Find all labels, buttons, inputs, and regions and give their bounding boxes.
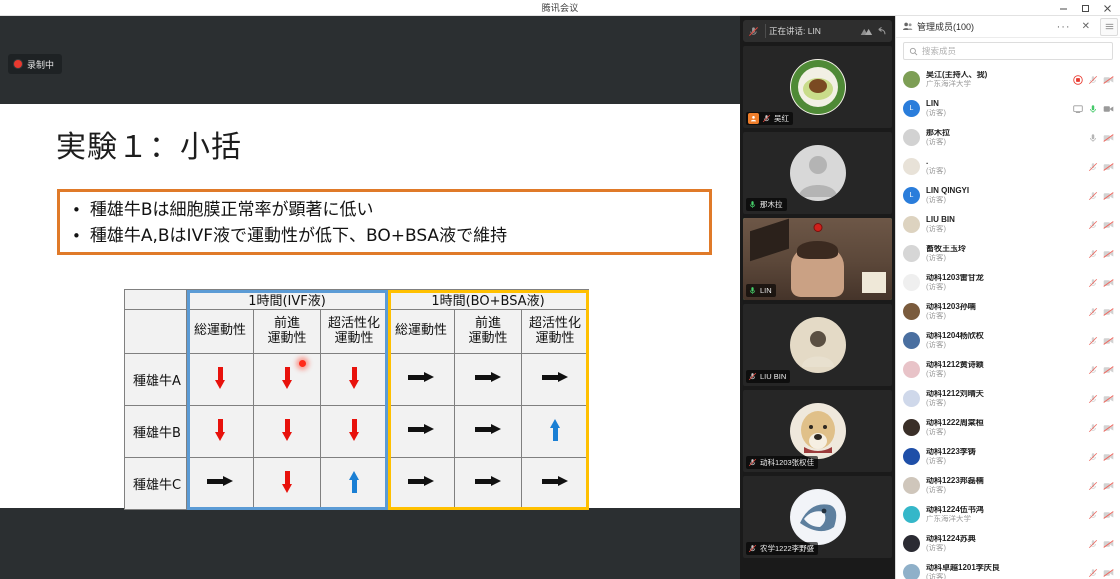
mic-muted-icon[interactable] [1088,423,1098,433]
window-title: 腾讯会议 [542,1,579,14]
camera-on-icon[interactable] [1103,104,1114,114]
cell-r2-c0 [187,458,254,510]
camera-muted-icon[interactable] [1103,307,1114,317]
avatar [903,216,920,233]
shared-screen-stage: 录制中 実験１：小括 • 種雄牛Bは細胞膜正常率が顕著に低い • 種雄牛A,Bは… [0,16,740,579]
camera-muted-icon[interactable] [1103,75,1114,85]
avatar [903,303,920,320]
participant-row[interactable]: 动科1224伍书鸿广东海洋大学 [896,500,1120,529]
participant-controls[interactable] [1073,75,1114,85]
avatar: L [903,187,920,204]
participant-subtitle: (访客) [926,283,1082,291]
list-menu-icon [1105,22,1114,31]
participant-name: 动科1224苏典 [926,535,1082,544]
participant-info: 动科1224伍书鸿广东海洋大学 [926,506,1082,523]
mic-muted-icon[interactable] [1088,336,1098,346]
cell-r0-c1 [254,354,321,406]
mic-muted-icon[interactable] [1088,452,1098,462]
participant-controls[interactable] [1088,133,1114,143]
search-input[interactable] [922,46,1107,56]
bullet-marker-icon: • [72,224,81,248]
panel-close-button[interactable]: ✕ [1078,21,1094,32]
participant-controls[interactable] [1088,568,1114,578]
participant-row[interactable]: 动科1204杨欣权(访客) [896,326,1120,355]
video-tile-2[interactable]: LIN [743,218,892,300]
mic-muted-icon[interactable] [1088,162,1098,172]
avatar [903,245,920,262]
avatar-photo [790,59,846,115]
mic-muted-icon[interactable] [1088,191,1098,201]
participant-info: 吴江(主持人、我)广东海洋大学 [926,71,1067,88]
arrow-down-icon [282,471,293,493]
mic-on-icon [748,286,757,295]
participant-name: 动科卓越1201李庆良 [926,564,1082,573]
share-screen-icon[interactable] [1073,104,1083,114]
arrow-down-icon [282,419,293,441]
stage-letterbox-bottom [0,508,740,579]
participant-name: 动科1204杨欣权 [926,332,1082,341]
mic-on-icon [748,200,757,209]
tile-name-badge: 动科1203张权佳 [746,456,818,469]
avatar [903,158,920,175]
participant-row[interactable]: 动科1224苏典(访客) [896,529,1120,558]
participant-row[interactable]: 畜牧王玉玲(访客) [896,239,1120,268]
participants-search-box[interactable] [903,42,1113,60]
maximize-button[interactable] [1074,0,1096,16]
cell-r2-c5 [522,458,589,510]
slide-bullet-box: • 種雄牛Bは細胞膜正常率が顕著に低い • 種雄牛A,BはIVF液で運動性が低下… [57,189,712,255]
mic-muted-icon[interactable] [1088,539,1098,549]
arrow-down-icon [282,367,293,389]
people-icon [902,21,913,32]
participants-panel-header: 管理成员(100) ··· ✕ [896,16,1120,38]
participant-controls[interactable] [1088,365,1114,375]
cell-r2-c1 [254,458,321,510]
mic-muted-icon[interactable] [1088,568,1098,578]
tile-participant-name: 那木拉 [760,199,783,210]
slide-title: 実験１：小括 [56,122,242,166]
camera-muted-icon[interactable] [1103,365,1114,375]
camera-muted-icon[interactable] [1103,423,1114,433]
participant-info: 动科1204杨欣权(访客) [926,332,1082,349]
cell-r0-c3 [388,354,455,406]
arrow-down-icon [215,367,226,389]
participant-info: 动科1212黄诗颖(访客) [926,361,1082,378]
participant-controls[interactable] [1088,278,1114,288]
avatar [903,274,920,291]
mic-muted-icon [748,544,757,553]
arrow-right-icon [475,424,501,435]
speaker-bar-actions[interactable] [859,26,887,37]
bullet-item-2: • 種雄牛A,BはIVF液で運動性が低下、BO+BSA液で維持 [72,224,699,250]
video-tile-4[interactable]: 动科1203张权佳 [743,390,892,472]
results-table-wrapper: 1時間(IVF液) 1時間(BO+BSA液) 総運動性 前進運動性 超活性化運動… [124,289,589,510]
table-corner-grey [125,310,187,354]
participant-name: 吴江(主持人、我) [926,71,1067,80]
participant-info: 动科1203雷甘龙(访客) [926,274,1082,291]
avatar [903,361,920,378]
stage-letterbox-top [0,16,740,104]
avatar [903,332,920,349]
camera-muted-icon[interactable] [1103,539,1114,549]
active-speaker-bar: 正在讲话: LIN [743,20,892,42]
arrow-right-icon [542,372,568,383]
presentation-slide: 実験１：小括 • 種雄牛Bは細胞膜正常率が顕著に低い • 種雄牛A,BはIVF液… [0,104,740,508]
video-tile-1[interactable]: 那木拉 [743,132,892,214]
panel-menu-button[interactable] [1100,18,1118,36]
arrow-right-icon [408,372,434,383]
participant-info: 动科1223李铸(访客) [926,448,1082,465]
participant-subtitle: (访客) [926,341,1082,349]
avatar-photo [790,403,846,459]
participant-name: 动科1212黄诗颖 [926,361,1082,370]
avatar [903,129,920,146]
tile-name-badge: 农学1222李野盛 [746,542,818,555]
arrow-right-icon [475,476,501,487]
minimize-button[interactable] [1052,0,1074,16]
participant-name: 那木拉 [926,129,1082,138]
participant-row[interactable]: 动科1223邦磊楠(访客) [896,471,1120,500]
window-title-bar: 腾讯会议 [0,0,1120,16]
col-head-ivf-progressive: 前進運動性 [254,310,321,354]
avatar [903,71,920,88]
tile-participant-name: 动科1203张权佳 [760,457,814,468]
avatar-photo [790,317,846,373]
participants-list[interactable]: 吴江(主持人、我)广东海洋大学LLIN(访客)那木拉(访客).(访客)LLIN … [896,65,1120,579]
participant-name: 动科1223邦磊楠 [926,477,1082,486]
mic-on-icon[interactable] [1088,104,1098,114]
cell-r1-c0 [187,406,254,458]
col-head-bo-progressive: 前進運動性 [455,310,522,354]
participant-name: . [926,158,1082,167]
video-tile-5[interactable]: 农学1222李野盛 [743,476,892,558]
participant-info: LIN(访客) [926,100,1067,117]
bullet-item-1: • 種雄牛Bは細胞膜正常率が顕著に低い [72,198,699,224]
participant-subtitle: (访客) [926,196,1082,204]
participant-controls[interactable] [1088,539,1114,549]
participant-controls[interactable] [1088,510,1114,520]
participant-info: LIU BIN(访客) [926,216,1082,233]
arrow-right-icon [408,424,434,435]
cell-r1-c1 [254,406,321,458]
host-badge-icon [748,113,759,124]
participant-info: 那木拉(访客) [926,129,1082,146]
video-tiles-container: 吴红那木拉LINLIU BIN动科1203张权佳农学1222李野盛 [743,46,892,558]
avatar-photo [790,489,846,545]
participant-info: 动科1223邦磊楠(访客) [926,477,1082,494]
row-label-2: 種雄牛C [125,458,187,510]
camera-muted-icon[interactable] [1103,278,1114,288]
record-dot-icon [14,60,22,68]
participant-subtitle: (访客) [926,486,1082,494]
participant-name: 动科1212刘晴天 [926,390,1082,399]
tile-name-badge: LIU BIN [746,370,790,383]
arrow-down-icon [349,367,360,389]
tile-participant-name: 农学1222李野盛 [760,543,814,554]
arrow-up-icon [349,471,360,493]
video-tile-0[interactable]: 吴红 [743,46,892,128]
participant-row[interactable]: 动科1212黄诗颖(访客) [896,355,1120,384]
cell-r0-c2 [321,354,388,406]
mic-muted-icon[interactable] [1088,307,1098,317]
participant-row[interactable]: LLIN QINGYI(访客) [896,181,1120,210]
col-head-bo-total: 総運動性 [388,310,455,354]
participant-subtitle: (访客) [926,312,1082,320]
table-row: 種雄牛C [125,458,589,510]
participant-controls[interactable] [1088,452,1114,462]
results-matrix-table: 1時間(IVF液) 1時間(BO+BSA液) 総運動性 前進運動性 超活性化運動… [124,289,589,510]
col-head-ivf-hyper: 超活性化運動性 [321,310,388,354]
participant-info: 动科1224苏典(访客) [926,535,1082,552]
mic-muted-icon [748,458,757,467]
participant-controls[interactable] [1088,423,1114,433]
cell-r1-c5 [522,406,589,458]
tile-name-badge: 那木拉 [746,198,787,211]
arrow-down-icon [215,419,226,441]
row-label-1: 種雄牛B [125,406,187,458]
participant-name: 动科1222周棠桓 [926,419,1082,428]
table-group-header-row: 1時間(IVF液) 1時間(BO+BSA液) [125,290,589,310]
video-thumbnail-strip: 正在讲话: LIN 吴红那木拉LINLIU BIN动科1203张权佳农学1222… [740,16,895,579]
col-head-ivf-total: 総運動性 [187,310,254,354]
cell-r1-c3 [388,406,455,458]
participants-panel: 管理成员(100) ··· ✕ 吴江(主持人、我)广东海洋大学LLIN(访客) [895,16,1120,579]
participant-subtitle: (访客) [926,544,1082,552]
participant-subtitle: (访客) [926,254,1082,262]
arrow-down-icon [349,419,360,441]
mic-muted-icon[interactable] [1088,75,1098,85]
collapse-icon[interactable] [859,26,873,37]
participant-info: .(访客) [926,158,1082,175]
participant-subtitle: (访客) [926,109,1067,117]
participant-subtitle: (访客) [926,167,1082,175]
cell-r0-c0 [187,354,254,406]
avatar [903,419,920,436]
participant-controls[interactable] [1088,336,1114,346]
table-corner-blank [125,290,187,310]
bullet-marker-icon: • [72,198,81,222]
participant-subtitle: (访客) [926,457,1082,465]
avatar [903,477,920,494]
participant-controls[interactable] [1088,162,1114,172]
camera-muted-icon[interactable] [1103,191,1114,201]
mic-muted-icon[interactable] [1088,481,1098,491]
participant-subtitle: (访客) [926,573,1082,579]
participant-controls[interactable] [1073,104,1114,114]
participant-row[interactable]: 动科1212刘晴天(访客) [896,384,1120,413]
laser-pointer-dot [299,360,306,367]
record-dot-icon[interactable] [1073,75,1083,85]
camera-muted-icon[interactable] [1103,133,1114,143]
active-speaker-label: 正在讲话: LIN [764,25,854,37]
participant-row[interactable]: 那木拉(访客) [896,123,1120,152]
tile-record-dot-icon [813,223,822,232]
bullet-text-1: 種雄牛Bは細胞膜正常率が顕著に低い [90,198,374,224]
mic-muted-icon[interactable] [1088,278,1098,288]
participant-controls[interactable] [1088,481,1114,491]
tile-participant-name: LIU BIN [760,372,786,381]
tile-name-badge: 吴红 [746,112,793,125]
participant-subtitle: (访客) [926,138,1082,146]
avatar [903,390,920,407]
mic-icon[interactable] [1088,133,1098,143]
cell-r0-c5 [522,354,589,406]
bullet-text-2: 種雄牛A,BはIVF液で運動性が低下、BO+BSA液で維持 [90,224,507,250]
participant-name: 动科1203孙喃 [926,303,1082,312]
participant-row[interactable]: 动科1223李铸(访客) [896,442,1120,471]
participant-row[interactable]: 动科卓越1201李庆良(访客) [896,558,1120,579]
participant-info: 动科1222周棠桓(访客) [926,419,1082,436]
avatar-placeholder [790,145,846,201]
mic-muted-icon[interactable] [1088,249,1098,259]
participant-row[interactable]: 动科1203孙喃(访客) [896,297,1120,326]
cell-r1-c2 [321,406,388,458]
participants-panel-title: 管理成员(100) [917,20,1050,33]
participant-name: 动科1203雷甘龙 [926,274,1082,283]
participant-name: 畜牧王玉玲 [926,245,1082,254]
avatar [903,564,920,579]
participant-controls[interactable] [1088,249,1114,259]
camera-muted-icon[interactable] [1103,510,1114,520]
cell-r2-c3 [388,458,455,510]
participant-controls[interactable] [1088,307,1114,317]
col-head-bo-hyper: 超活性化運動性 [522,310,589,354]
camera-muted-icon[interactable] [1103,336,1114,346]
participant-subtitle: (访客) [926,399,1082,407]
mic-muted-icon[interactable] [1088,365,1098,375]
participant-subtitle: 广东海洋大学 [926,80,1067,88]
recording-badge: 录制中 [8,54,62,74]
participant-info: 动科1203孙喃(访客) [926,303,1082,320]
participant-controls[interactable] [1088,191,1114,201]
participants-search-wrapper [896,38,1120,65]
participant-subtitle: (访客) [926,370,1082,378]
tile-name-badge: LIN [746,284,776,297]
mic-muted-icon[interactable] [1088,510,1098,520]
participant-subtitle: 广东海洋大学 [926,515,1082,523]
camera-muted-icon[interactable] [1103,249,1114,259]
row-label-0: 種雄牛A [125,354,187,406]
participant-name: 动科1224伍书鸿 [926,506,1082,515]
participant-row[interactable]: 动科1203雷甘龙(访客) [896,268,1120,297]
table-row: 種雄牛A [125,354,589,406]
cell-r2-c4 [455,458,522,510]
group-header-ivf: 1時間(IVF液) [187,290,388,310]
video-tile-3[interactable]: LIU BIN [743,304,892,386]
cell-r0-c4 [455,354,522,406]
mic-muted-icon [748,372,757,381]
participant-info: LIN QINGYI(访客) [926,187,1082,204]
participant-row[interactable]: .(访客) [896,152,1120,181]
arrow-right-icon [542,476,568,487]
tile-participant-name: LIN [760,286,772,295]
camera-muted-icon[interactable] [1103,162,1114,172]
close-button[interactable] [1096,0,1118,16]
camera-muted-icon[interactable] [1103,452,1114,462]
participant-row[interactable]: LLIN(访客) [896,94,1120,123]
tile-participant-name: 吴红 [774,113,789,124]
mic-muted-icon [762,114,771,123]
mic-muted-icon[interactable] [1088,394,1098,404]
window-controls [1052,0,1118,16]
arrow-up-icon [550,419,561,441]
participant-row[interactable]: 动科1222周棠桓(访客) [896,413,1120,442]
avatar: L [903,100,920,117]
table-row: 種雄牛B [125,406,589,458]
participant-name: LIN QINGYI [926,187,1082,196]
participant-controls[interactable] [1088,220,1114,230]
cell-r1-c4 [455,406,522,458]
speaker-bar-divider [765,24,766,38]
participant-name: LIU BIN [926,216,1082,225]
mic-muted-icon [748,26,759,37]
arrow-right-icon [207,476,233,487]
participant-info: 畜牧王玉玲(访客) [926,245,1082,262]
participant-row[interactable]: 吴江(主持人、我)广东海洋大学 [896,65,1120,94]
cell-r2-c2 [321,458,388,510]
arrow-right-icon [408,476,434,487]
camera-muted-icon[interactable] [1103,481,1114,491]
participant-row[interactable]: LIU BIN(访客) [896,210,1120,239]
participant-subtitle: (访客) [926,225,1082,233]
recording-label: 录制中 [27,58,54,71]
mic-muted-icon[interactable] [1088,220,1098,230]
participant-controls[interactable] [1088,394,1114,404]
camera-muted-icon[interactable] [1103,568,1114,578]
participant-name: 动科1223李铸 [926,448,1082,457]
table-subheader-row: 総運動性 前進運動性 超活性化運動性 総運動性 前進運動性 [125,310,589,354]
camera-muted-icon[interactable] [1103,220,1114,230]
participant-info: 动科1212刘晴天(访客) [926,390,1082,407]
avatar [903,535,920,552]
group-header-bo-bsa: 1時間(BO+BSA液) [388,290,589,310]
arrow-right-icon [475,372,501,383]
avatar [903,506,920,523]
participant-subtitle: (访客) [926,428,1082,436]
participant-name: LIN [926,100,1067,109]
camera-muted-icon[interactable] [1103,394,1114,404]
panel-more-button[interactable]: ··· [1054,21,1074,33]
back-arrow-icon[interactable] [876,26,887,37]
search-icon [909,47,918,56]
avatar [903,448,920,465]
participant-info: 动科卓越1201李庆良(访客) [926,564,1082,579]
